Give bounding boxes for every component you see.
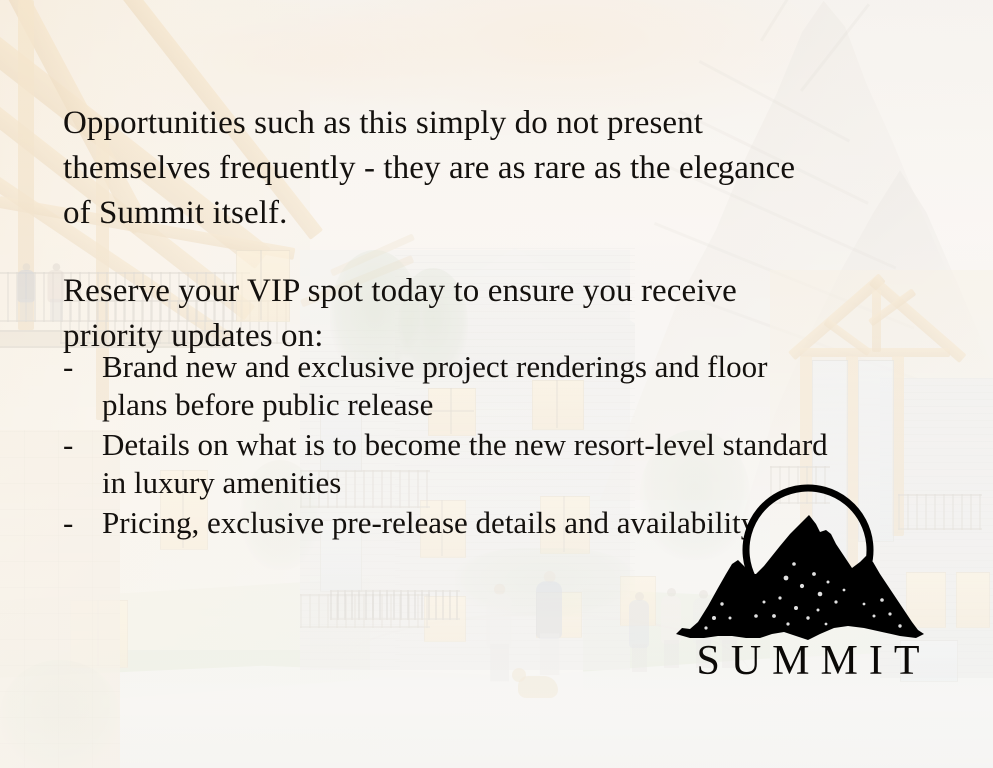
logo-wordmark: SUMMIT: [668, 637, 948, 685]
bullet-marker: -: [63, 426, 73, 464]
cta-paragraph: Reserve your VIP spot today to ensure yo…: [63, 269, 823, 359]
headline-paragraph: Opportunities such as this simply do not…: [63, 101, 823, 236]
mountain-in-circle-icon: [668, 482, 948, 647]
list-item-label: Pricing, exclusive pre-release details a…: [102, 505, 756, 540]
bullet-marker: -: [63, 504, 73, 542]
logo-mountain: [676, 515, 924, 640]
slide-content: Opportunities such as this simply do not…: [0, 0, 993, 768]
bullet-marker: -: [63, 348, 73, 386]
list-item-label: Brand new and exclusive project renderin…: [102, 349, 767, 422]
list-item: - Brand new and exclusive project render…: [60, 348, 840, 424]
summit-logo: SUMMIT: [668, 482, 948, 707]
marketing-slide: Opportunities such as this simply do not…: [0, 0, 993, 768]
